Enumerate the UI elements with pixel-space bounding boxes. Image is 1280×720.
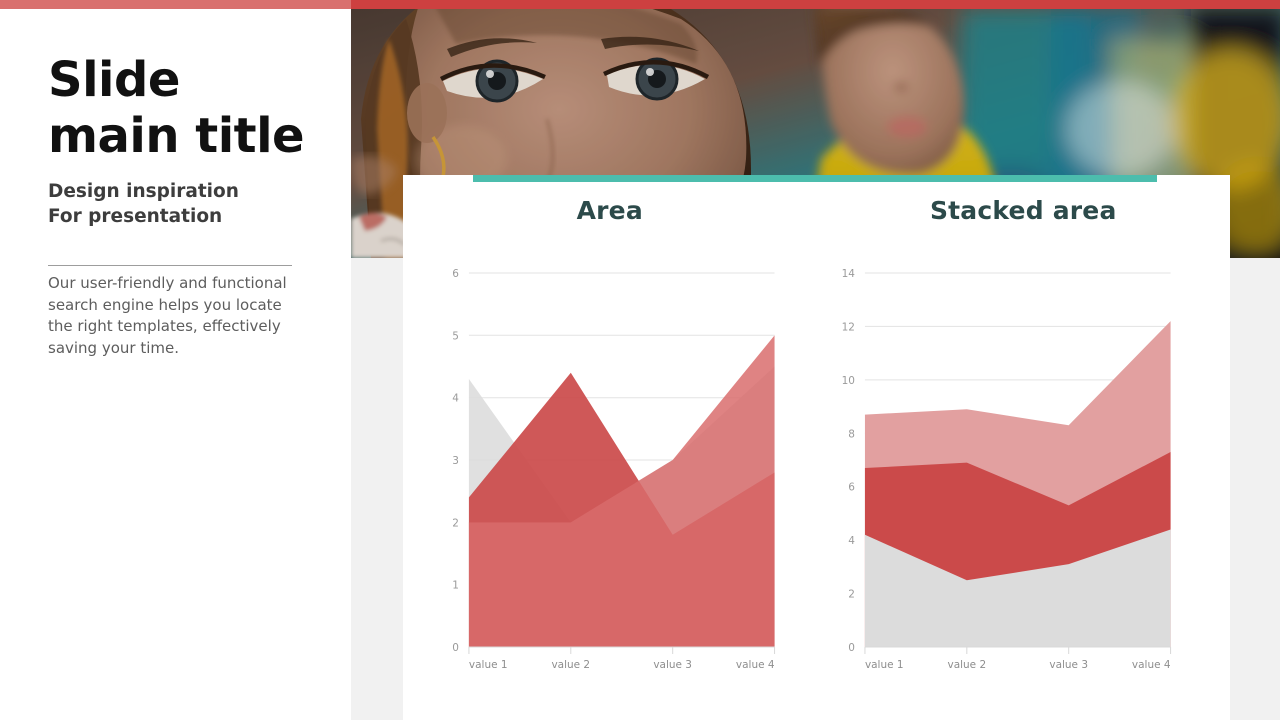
- top-accent-bar-left: [0, 0, 351, 9]
- divider: [48, 265, 292, 266]
- charts-card: Area: [403, 175, 1230, 720]
- svg-text:value 3: value 3: [1049, 659, 1088, 671]
- svg-text:6: 6: [848, 482, 855, 494]
- page-title: Slide main title: [48, 52, 338, 164]
- svg-text:0: 0: [848, 642, 855, 654]
- chart-stacked-area-title: Stacked area: [817, 196, 1231, 225]
- svg-text:value 1: value 1: [469, 659, 508, 671]
- svg-text:2: 2: [848, 589, 855, 601]
- svg-text:value 4: value 4: [1131, 659, 1170, 671]
- svg-text:12: 12: [841, 321, 854, 333]
- svg-text:8: 8: [848, 428, 855, 440]
- svg-text:0: 0: [452, 642, 459, 654]
- chart-area-svg: 6 5 4 3 2 1 0: [403, 247, 817, 720]
- page-subtitle: Design inspiration For presentation: [48, 179, 338, 229]
- x-axis-ticks: [864, 647, 1170, 654]
- y-axis-labels: 6 5 4 3 2 1 0: [452, 268, 459, 654]
- chart-stacked-area-svg: 14 12 10 8 6 4 2 0: [817, 247, 1231, 720]
- svg-text:14: 14: [841, 268, 855, 280]
- page-subtitle-line-1: Design inspiration: [48, 179, 338, 204]
- charts-row: Area: [403, 175, 1230, 720]
- svg-text:6: 6: [452, 268, 459, 280]
- x-axis-labels: value 1 value 2 value 3 value 4: [469, 659, 775, 671]
- svg-text:value 2: value 2: [551, 659, 590, 671]
- svg-text:2: 2: [452, 517, 459, 529]
- page-title-line-2: main title: [48, 108, 338, 164]
- chart-stacked-area-plot[interactable]: 14 12 10 8 6 4 2 0: [817, 247, 1231, 720]
- chart-stacked-area-panel: Stacked area: [817, 175, 1231, 720]
- top-accent-bar-right: [351, 0, 1280, 9]
- svg-text:value 4: value 4: [736, 659, 775, 671]
- y-axis-labels: 14 12 10 8 6 4 2 0: [841, 268, 855, 654]
- svg-text:4: 4: [848, 535, 855, 547]
- left-text-panel: Slide main title Design inspiration For …: [0, 9, 351, 720]
- svg-text:5: 5: [452, 330, 459, 342]
- svg-text:1: 1: [452, 580, 459, 592]
- svg-text:10: 10: [841, 375, 854, 387]
- slide-root: Slide main title Design inspiration For …: [0, 0, 1280, 720]
- svg-text:3: 3: [452, 455, 459, 467]
- page-subtitle-line-2: For presentation: [48, 204, 338, 229]
- svg-text:4: 4: [452, 393, 459, 405]
- x-axis-ticks: [469, 647, 775, 654]
- svg-text:value 2: value 2: [947, 659, 986, 671]
- chart-area-panel: Area: [403, 175, 817, 720]
- svg-text:value 3: value 3: [653, 659, 692, 671]
- chart-area-title: Area: [403, 196, 817, 225]
- chart-area-plot[interactable]: 6 5 4 3 2 1 0: [403, 247, 817, 720]
- page-title-line-1: Slide: [48, 52, 338, 108]
- svg-text:value 1: value 1: [864, 659, 903, 671]
- body-paragraph: Our user-friendly and functional search …: [48, 273, 298, 359]
- x-axis-labels: value 1 value 2 value 3 value 4: [864, 659, 1170, 671]
